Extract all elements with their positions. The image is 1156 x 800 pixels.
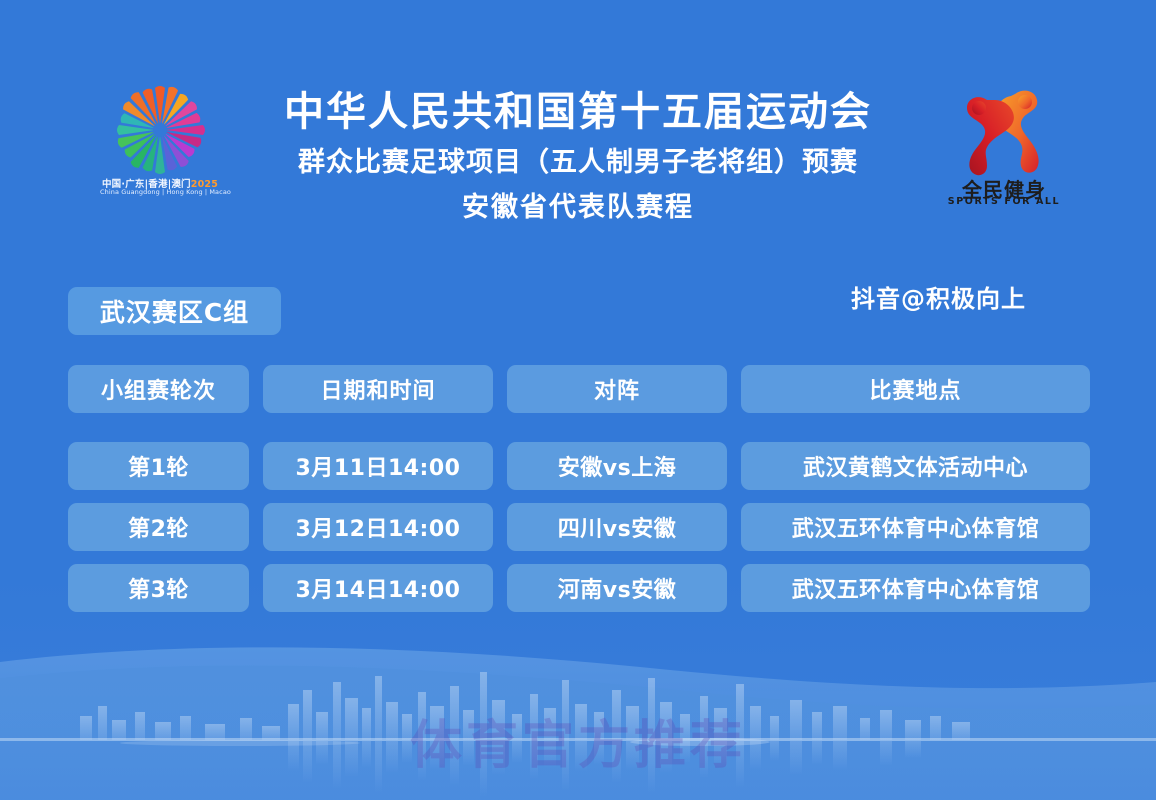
page-title: 中华人民共和国第十五届运动会 bbox=[178, 86, 978, 138]
city-skyline-silhouette bbox=[80, 672, 970, 740]
column-header-round: 小组赛轮次 bbox=[68, 365, 249, 413]
cell-round: 第1轮 bbox=[68, 442, 249, 490]
running-figures-icon bbox=[953, 86, 1055, 178]
column-header-matchup: 对阵 bbox=[507, 365, 727, 413]
table-header-row: 小组赛轮次 日期和时间 对阵 比赛地点 bbox=[68, 365, 1090, 413]
page-subtitle: 群众比赛足球项目（五人制男子老将组）预赛 bbox=[178, 144, 978, 182]
cell-datetime: 3月12日14:00 bbox=[263, 503, 493, 551]
cell-datetime: 3月11日14:00 bbox=[263, 442, 493, 490]
column-header-venue: 比赛地点 bbox=[741, 365, 1090, 413]
skyline-wave-graphic bbox=[0, 620, 1156, 800]
cell-matchup: 河南vs安徽 bbox=[507, 564, 727, 612]
group-badge: 武汉赛区C组 bbox=[68, 287, 281, 335]
poster-canvas: 体育官方推荐 bbox=[0, 0, 1156, 800]
table-row: 第3轮 3月14日14:00 河南vs安徽 武汉五环体育中心体育馆 bbox=[68, 564, 1090, 612]
table-row: 第1轮 3月11日14:00 安徽vs上海 武汉黄鹤文体活动中心 bbox=[68, 442, 1090, 490]
cell-datetime: 3月14日14:00 bbox=[263, 564, 493, 612]
team-schedule-title: 安徽省代表队赛程 bbox=[178, 190, 978, 226]
column-header-datetime: 日期和时间 bbox=[263, 365, 493, 413]
title-block: 中华人民共和国第十五届运动会 群众比赛足球项目（五人制男子老将组）预赛 安徽省代… bbox=[178, 86, 978, 226]
cell-round: 第3轮 bbox=[68, 564, 249, 612]
sports-for-all-label-en: SPORTS FOR ALL bbox=[945, 196, 1063, 207]
cell-venue: 武汉五环体育中心体育馆 bbox=[741, 564, 1090, 612]
bottom-decoration: 体育官方推荐 bbox=[0, 620, 1156, 800]
schedule-table: 小组赛轮次 日期和时间 对阵 比赛地点 第1轮 3月11日14:00 安徽vs上… bbox=[68, 365, 1090, 625]
city-skyline-reflection bbox=[288, 741, 921, 797]
cell-matchup: 四川vs安徽 bbox=[507, 503, 727, 551]
cell-venue: 武汉五环体育中心体育馆 bbox=[741, 503, 1090, 551]
table-row: 第2轮 3月12日14:00 四川vs安徽 武汉五环体育中心体育馆 bbox=[68, 503, 1090, 551]
social-handle: 抖音@积极向上 bbox=[851, 279, 1026, 314]
cell-matchup: 安徽vs上海 bbox=[507, 442, 727, 490]
sports-for-all-logo: 全民健身 SPORTS FOR ALL bbox=[945, 86, 1063, 211]
cell-round: 第2轮 bbox=[68, 503, 249, 551]
cell-venue: 武汉黄鹤文体活动中心 bbox=[741, 442, 1090, 490]
poster-header: 中国·广东|香港|澳门2025 China Guangdong | Hong K… bbox=[0, 0, 1156, 270]
watermark-text: 体育官方推荐 bbox=[0, 703, 1156, 778]
